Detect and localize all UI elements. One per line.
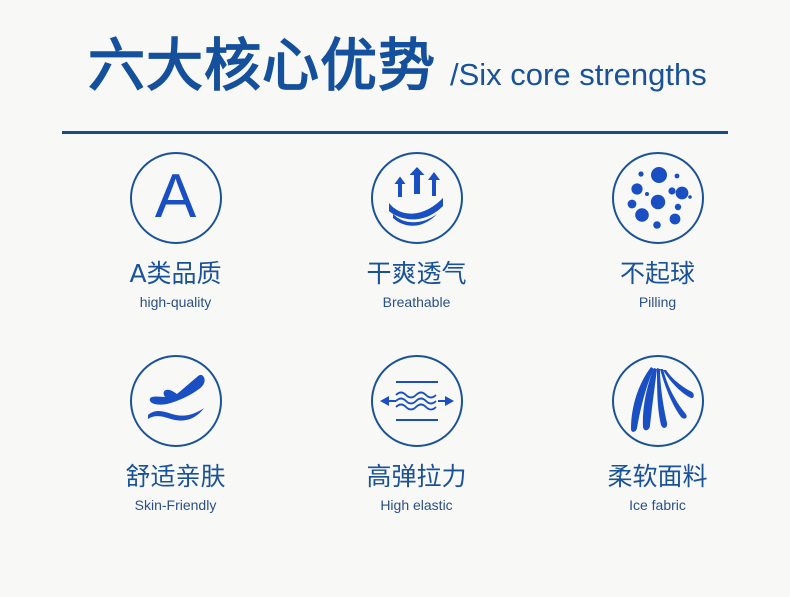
feature-label-cn: 干爽透气	[366, 260, 466, 289]
page-title-en: /Six core strengths	[450, 59, 707, 90]
feature-label-en: Ice fabric	[629, 497, 686, 513]
page-title-cn: 六大核心优势	[88, 38, 436, 95]
feature-item-skin-friendly: 舒适亲肤 Skin-Friendly	[66, 355, 285, 558]
pilling-dots-icon	[612, 152, 704, 244]
feature-label-en: Breathable	[383, 294, 451, 310]
hand-wave-icon	[130, 355, 222, 447]
header-divider	[62, 131, 728, 134]
feature-label-en: Pilling	[639, 294, 676, 310]
flowing-fabric-icon	[612, 355, 704, 447]
header: 六大核心优势 /Six core strengths	[0, 0, 790, 140]
letter-a-icon: A	[130, 152, 222, 244]
feature-item-ice-fabric: 柔软面料 Ice fabric	[548, 355, 767, 558]
feature-grid: A A类品质 high-quality	[0, 152, 790, 558]
feature-label-en: high-quality	[140, 294, 212, 310]
breathable-arrows-icon	[371, 152, 463, 244]
feature-item-breathable: 干爽透气 Breathable	[307, 152, 526, 355]
feature-label-cn: 不起球	[620, 260, 695, 289]
title-row: 六大核心优势 /Six core strengths	[88, 38, 707, 95]
feature-item-high-elastic: 高弹拉力 High elastic	[307, 355, 526, 558]
feature-item-high-quality: A A类品质 high-quality	[66, 152, 285, 355]
feature-label-en: Skin-Friendly	[135, 497, 217, 513]
feature-label-cn: A类品质	[129, 260, 221, 289]
stretch-arrows-icon	[371, 355, 463, 447]
feature-label-en: High elastic	[380, 497, 452, 513]
feature-label-cn: 舒适亲肤	[125, 463, 225, 492]
feature-label-cn: 柔软面料	[607, 463, 707, 492]
letter-a-glyph: A	[155, 166, 196, 228]
promo-banner: 六大核心优势 /Six core strengths A A类品质 high-q…	[0, 0, 790, 597]
feature-label-cn: 高弹拉力	[366, 463, 466, 492]
feature-item-pilling: 不起球 Pilling	[548, 152, 767, 355]
